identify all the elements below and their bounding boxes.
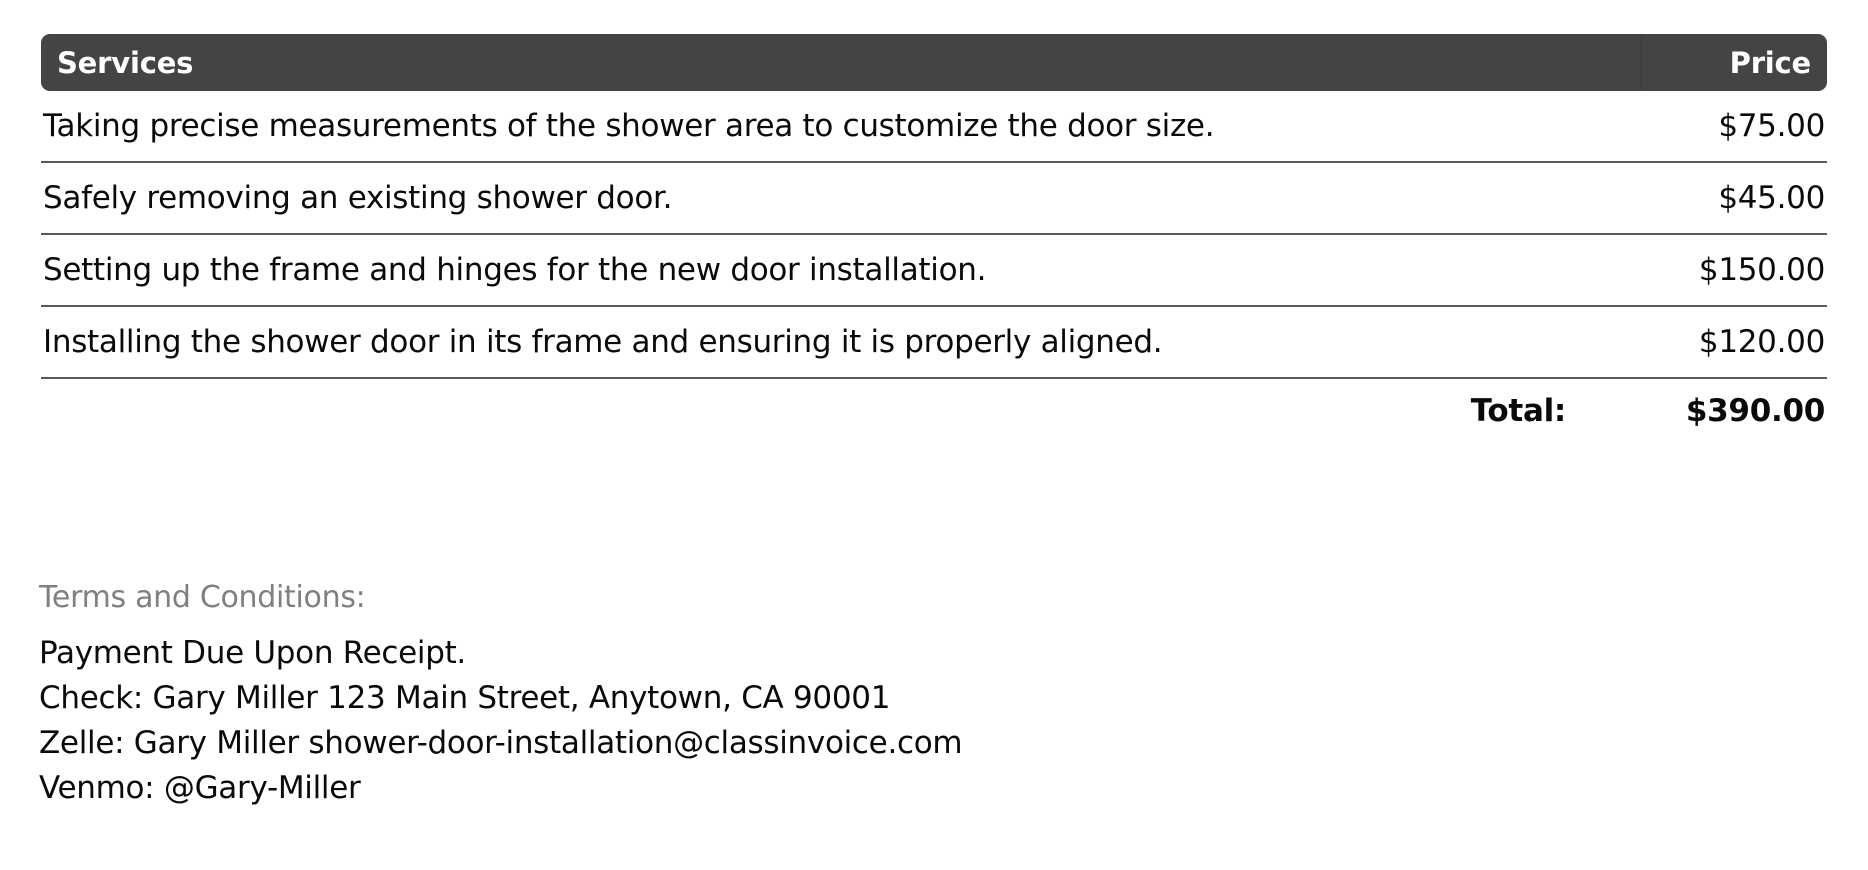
service-price: $120.00 xyxy=(1640,324,1827,360)
terms-title: Terms and Conditions: xyxy=(39,580,1739,615)
column-header-services: Services xyxy=(41,34,1642,91)
terms-line-payment: Payment Due Upon Receipt. xyxy=(39,631,1739,676)
table-row: Safely removing an existing shower door.… xyxy=(41,163,1827,235)
invoice-page: Services Price Taking precise measuremen… xyxy=(0,0,1868,870)
terms-and-conditions-section: Terms and Conditions: Payment Due Upon R… xyxy=(39,580,1739,811)
service-description: Setting up the frame and hinges for the … xyxy=(41,252,1640,288)
terms-line-check: Check: Gary Miller 123 Main Street, Anyt… xyxy=(39,676,1739,721)
service-description: Taking precise measurements of the showe… xyxy=(41,108,1640,144)
table-row: Taking precise measurements of the showe… xyxy=(41,91,1827,163)
terms-line-zelle: Zelle: Gary Miller shower-door-installat… xyxy=(39,721,1739,766)
total-row: Total: $390.00 xyxy=(41,379,1827,443)
service-description: Installing the shower door in its frame … xyxy=(41,324,1640,360)
service-price: $45.00 xyxy=(1640,180,1827,216)
table-row: Setting up the frame and hinges for the … xyxy=(41,235,1827,307)
column-header-price: Price xyxy=(1642,34,1827,91)
table-header-row: Services Price xyxy=(41,34,1827,91)
services-table: Services Price Taking precise measuremen… xyxy=(41,34,1827,443)
total-amount: $390.00 xyxy=(1642,393,1827,429)
service-description: Safely removing an existing shower door. xyxy=(41,180,1640,216)
terms-line-venmo: Venmo: @Gary-Miller xyxy=(39,766,1739,811)
total-label: Total: xyxy=(1382,393,1642,429)
table-row: Installing the shower door in its frame … xyxy=(41,307,1827,379)
service-price: $75.00 xyxy=(1640,108,1827,144)
service-price: $150.00 xyxy=(1640,252,1827,288)
